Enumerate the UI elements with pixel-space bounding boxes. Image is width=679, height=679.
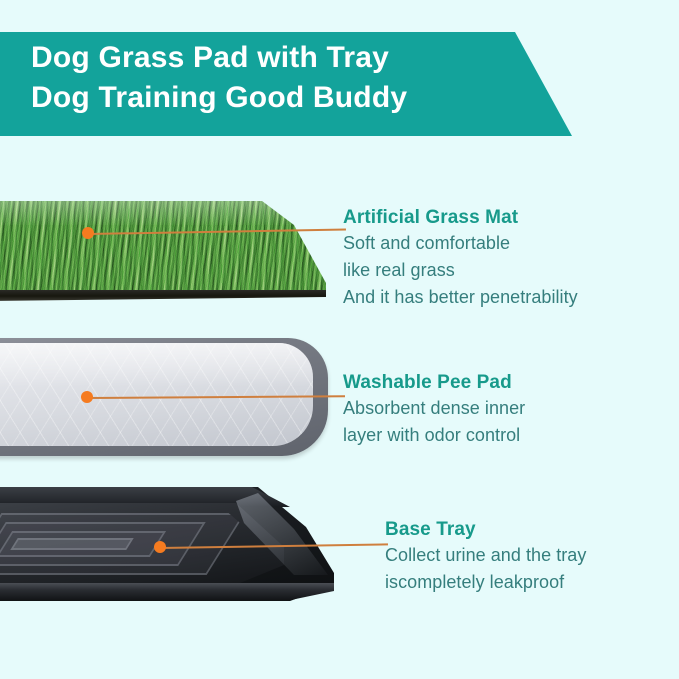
product-image-base-tray: [0, 487, 350, 611]
callout-title-grass-mat: Artificial Grass Mat: [343, 205, 578, 230]
callout-desc-line: Soft and comfortable: [343, 230, 578, 257]
callout-title-pee-pad: Washable Pee Pad: [343, 370, 525, 395]
banner-title: Dog Grass Pad with Tray Dog Training Goo…: [31, 38, 407, 118]
callout-dot-grass-mat: [82, 227, 94, 239]
banner-title-line-1: Dog Grass Pad with Tray: [31, 38, 407, 78]
header-banner: Dog Grass Pad with Tray Dog Training Goo…: [0, 32, 590, 136]
callout-pee-pad: Washable Pee Pad Absorbent dense inner l…: [343, 370, 525, 449]
tray-base-edge: [0, 583, 334, 601]
product-image-pee-pad: [0, 338, 338, 462]
grass-backing-edge: [0, 290, 326, 301]
callout-dot-pee-pad: [81, 391, 93, 403]
callout-title-base-tray: Base Tray: [385, 517, 586, 542]
banner-title-line-2: Dog Training Good Buddy: [31, 78, 407, 118]
callout-desc-line: Absorbent dense inner: [343, 395, 525, 422]
callout-desc-line: Collect urine and the tray: [385, 542, 586, 569]
callout-grass-mat: Artificial Grass Mat Soft and comfortabl…: [343, 205, 578, 311]
callout-desc-line: layer with odor control: [343, 422, 525, 449]
callout-desc-line: like real grass: [343, 257, 578, 284]
product-image-grass-mat: [0, 197, 334, 313]
callout-base-tray: Base Tray Collect urine and the tray isc…: [385, 517, 586, 596]
callout-dot-base-tray: [154, 541, 166, 553]
callout-desc-line: And it has better penetrability: [343, 284, 578, 311]
pee-pad-surface: [0, 343, 313, 446]
product-infographic: Dog Grass Pad with Tray Dog Training Goo…: [0, 0, 679, 679]
callout-desc-line: iscompletely leakproof: [385, 569, 586, 596]
